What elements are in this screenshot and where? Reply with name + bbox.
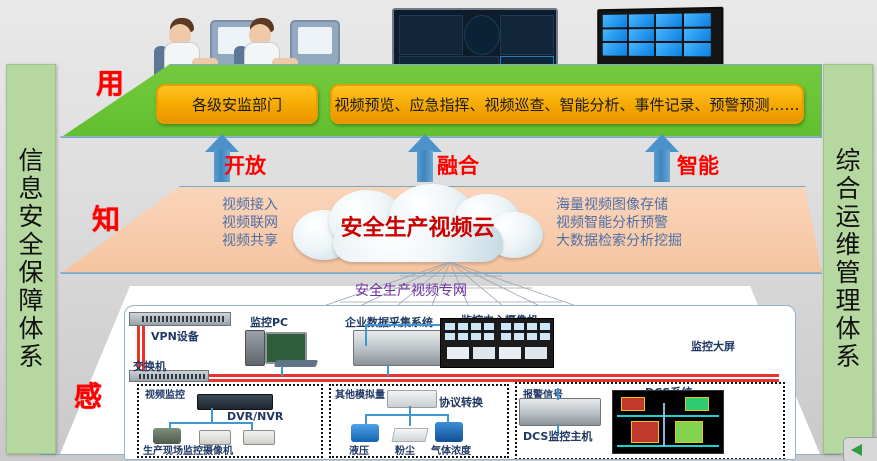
pc-link	[281, 366, 283, 376]
bar-application-functions[interactable]: 视频预览、应急指挥、视频巡查、智能分析、事件记录、预警预测……	[330, 84, 804, 124]
pillar-right-char-4: 管	[835, 260, 860, 286]
pillar-left-char-5: 障	[18, 288, 43, 314]
cloud-right-item-2: 大数据检索分析挖掘	[556, 232, 786, 250]
cloud-left-item-0: 视频接入	[128, 196, 278, 214]
pillar-left-char-4: 保	[18, 260, 43, 286]
architecture-diagram: 用 知 感 信 息 安 全 保 障 体 系 综 合 运 维 管 理 体 系 各级…	[0, 0, 877, 461]
pillar-operations-management: 综 合 运 维 管 理 体 系	[823, 64, 873, 454]
video-cloud-shape: 安全生产视频云	[285, 184, 550, 262]
caption-field-cameras: 生产现场监控摄像机	[143, 442, 233, 457]
video-wall-grid	[603, 13, 711, 56]
dashboard-map-card	[500, 15, 554, 55]
layer-tag-use: 用	[96, 62, 125, 102]
layer-tag-sense: 感	[74, 375, 103, 415]
layer-tag-know: 知	[92, 198, 121, 238]
pillar-right-char-5: 理	[835, 288, 860, 314]
cloud-left-item-1: 视频联网	[128, 214, 278, 232]
private-network-label: 安全生产视频专网	[355, 280, 467, 300]
cloud-right-capabilities: 海量视频图像存储 视频智能分析预警 大数据检索分析挖掘	[556, 196, 786, 250]
dashboard-donut-card	[464, 15, 500, 55]
label-big-screen: 监控大屏	[691, 338, 735, 354]
pillar-left-char-2: 安	[18, 204, 43, 230]
dcs-riser	[557, 388, 559, 400]
vpn-device-icon	[129, 312, 231, 326]
cam-drop-2	[211, 408, 213, 422]
label-dcs-host: DCS监控主机	[523, 428, 592, 444]
pillar-right-char-3: 维	[835, 232, 860, 258]
arrow-label-fusion: 融合	[437, 150, 479, 180]
label-switch: 交换机	[133, 358, 166, 374]
taskbar-chip[interactable]	[843, 437, 877, 461]
pillar-left-char-7: 系	[18, 344, 43, 370]
label-protocol-converter: 协议转换	[439, 394, 483, 410]
cloud-title: 安全生产视频云	[285, 210, 550, 242]
analog-bus-h	[365, 414, 447, 416]
control-room-video-wall-icon	[440, 318, 554, 368]
pillar-left-char-3: 全	[18, 232, 43, 258]
dashboard-table-card	[399, 15, 463, 55]
label-video-surveillance: 视频监控	[145, 386, 185, 401]
pillar-right-char-2: 运	[835, 204, 860, 230]
red-bus-line-1	[139, 374, 779, 377]
pc-tower-icon	[245, 330, 265, 366]
analog-drop-2	[409, 414, 411, 426]
pillar-right-char-1: 合	[835, 176, 860, 202]
dcs-hmi-screen	[612, 390, 724, 454]
camera-link-h	[365, 324, 445, 326]
label-analog-signals: 其他模拟量	[335, 386, 385, 401]
crt-monitor-icon	[290, 20, 340, 66]
dcs-host-icon	[519, 398, 601, 426]
cloud-left-capabilities: 视频接入 视频联网 视频共享	[128, 196, 278, 250]
arrow-up-intelligence-icon	[645, 134, 679, 182]
collector-link	[387, 364, 389, 376]
pillar-information-security: 信 息 安 全 保 障 体 系	[6, 64, 56, 454]
label-data-collector: 企业数据采集系统	[345, 314, 433, 330]
camera-link-v	[365, 324, 367, 346]
analog-drop-1	[365, 414, 367, 424]
pillar-right-char-6: 体	[835, 316, 860, 342]
play-arrow-icon	[851, 444, 862, 456]
box-camera-icon-2	[243, 430, 275, 445]
cloud-right-item-1: 视频智能分析预警	[556, 214, 786, 232]
dust-sensor-icon	[392, 428, 429, 442]
dvr-nvr-icon	[197, 394, 273, 410]
industrial-pc-icon	[353, 330, 451, 366]
cam-bus-h	[169, 422, 251, 424]
pillar-right-char-0: 综	[835, 148, 860, 174]
gas-sensor-icon	[435, 422, 463, 442]
pillar-left-char-0: 信	[18, 148, 43, 174]
cloud-left-item-2: 视频共享	[128, 232, 278, 250]
bar-safety-departments[interactable]: 各级安监部门	[156, 84, 318, 124]
label-vpn-device: VPN设备	[151, 328, 199, 344]
pillar-left-char-1: 息	[18, 176, 43, 202]
hydraulic-sensor-icon	[351, 424, 379, 442]
arrow-label-intelligence: 智能	[677, 150, 719, 180]
pillar-right-char-7: 系	[835, 344, 860, 370]
pillar-left-char-6: 体	[18, 316, 43, 342]
cloud-right-item-0: 海量视频图像存储	[556, 196, 786, 214]
label-gas-concentration: 气体浓度	[431, 442, 471, 457]
arrow-label-open: 开放	[224, 150, 266, 180]
label-hydraulic: 液压	[349, 442, 369, 457]
label-monitor-pc: 监控PC	[250, 314, 288, 330]
label-dust: 粉尘	[395, 442, 415, 457]
protocol-converter-icon	[387, 390, 437, 408]
